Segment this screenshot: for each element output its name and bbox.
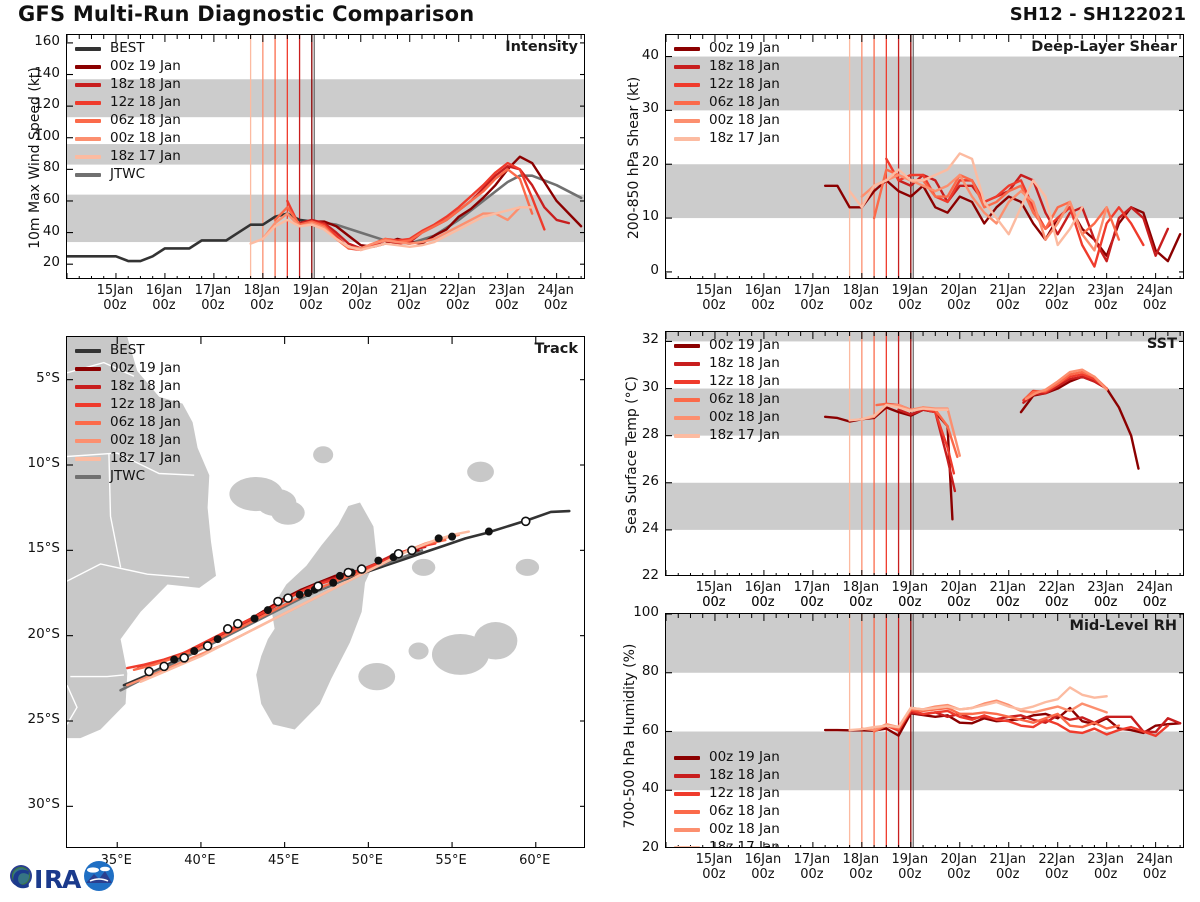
- legend-label: 18z 18 Jan: [709, 60, 780, 74]
- sst-ylabel: Sea Surface Temp (°C): [624, 335, 640, 575]
- legend-label: 18z 18 Jan: [110, 380, 181, 394]
- axis-tick-label: 160: [20, 33, 60, 49]
- legend-item: 00z 18 Jan: [75, 130, 181, 148]
- panel-rh: Mid-Level RH 00z 19 Jan18z 18 Jan12z 18 …: [665, 613, 1184, 848]
- legend-swatch-icon: [75, 65, 101, 70]
- axis-tick-label: 30: [619, 379, 659, 395]
- shear-legend: 00z 19 Jan18z 18 Jan12z 18 Jan06z 18 Jan…: [674, 40, 780, 148]
- legend-label: 00z 19 Jan: [110, 60, 181, 74]
- legend-label: 00z 18 Jan: [709, 823, 780, 837]
- legend-item: BEST: [75, 342, 181, 360]
- legend-swatch-icon: [674, 344, 700, 349]
- panel-sst: SST 00z 19 Jan18z 18 Jan12z 18 Jan06z 18…: [665, 331, 1184, 576]
- legend-swatch-icon: [75, 119, 101, 124]
- legend-label: 18z 17 Jan: [709, 132, 780, 146]
- axis-tick-label: 24Jan00z: [1125, 283, 1185, 314]
- axis-tick-label: 24Jan00z: [1125, 852, 1185, 883]
- legend-swatch-icon: [674, 756, 700, 761]
- legend-label: JTWC: [110, 470, 145, 484]
- legend-label: 00z 19 Jan: [709, 751, 780, 765]
- legend-label: 18z 17 Jan: [709, 841, 780, 848]
- track-legend: BEST00z 19 Jan18z 18 Jan12z 18 Jan06z 18…: [75, 342, 181, 486]
- legend-item: 18z 18 Jan: [674, 767, 780, 785]
- legend-label: BEST: [110, 42, 145, 56]
- axis-tick-label: 24: [619, 520, 659, 536]
- legend-swatch-icon: [75, 421, 101, 426]
- svg-text:A: A: [62, 865, 82, 894]
- axis-tick-label: 100: [20, 128, 60, 144]
- legend-swatch-icon: [674, 47, 700, 52]
- storm-id-label: SH12 - SH122021: [1010, 4, 1186, 25]
- legend-item: 06z 18 Jan: [674, 391, 780, 409]
- legend-swatch-icon: [75, 475, 101, 480]
- legend-label: 18z 17 Jan: [110, 150, 181, 164]
- legend-item: 12z 18 Jan: [75, 396, 181, 414]
- axis-tick-label: 25°S: [6, 711, 60, 727]
- legend-swatch-icon: [674, 65, 700, 70]
- axis-tick-label: 20: [619, 154, 659, 170]
- legend-label: 06z 18 Jan: [709, 805, 780, 819]
- legend-item: 00z 18 Jan: [75, 432, 181, 450]
- axis-tick-label: 28: [619, 426, 659, 442]
- sst-panel-title: SST: [1147, 336, 1177, 352]
- axis-tick-label: 140: [20, 65, 60, 81]
- legend-swatch-icon: [674, 83, 700, 88]
- legend-swatch-icon: [674, 380, 700, 385]
- legend-label: 00z 18 Jan: [709, 411, 780, 425]
- sst-legend: 00z 19 Jan18z 18 Jan12z 18 Jan06z 18 Jan…: [674, 337, 780, 445]
- axis-tick-label: 20: [619, 839, 659, 855]
- axis-tick-label: 60: [20, 191, 60, 207]
- legend-label: 18z 18 Jan: [110, 78, 181, 92]
- axis-tick-label: 40: [20, 223, 60, 239]
- legend-item: 06z 18 Jan: [674, 803, 780, 821]
- legend-item: 18z 17 Jan: [674, 130, 780, 148]
- legend-swatch-icon: [674, 792, 700, 797]
- legend-item: 18z 18 Jan: [674, 355, 780, 373]
- legend-label: 18z 18 Jan: [709, 769, 780, 783]
- rh-legend: 00z 19 Jan18z 18 Jan12z 18 Jan06z 18 Jan…: [674, 749, 780, 848]
- axis-tick-label: 10: [619, 208, 659, 224]
- legend-item: 00z 19 Jan: [75, 360, 181, 378]
- svg-text:C: C: [12, 865, 30, 894]
- legend-label: 00z 18 Jan: [110, 434, 181, 448]
- panel-shear: Deep-Layer Shear 00z 19 Jan18z 18 Jan12z…: [665, 34, 1184, 279]
- axis-tick-label: 60: [619, 722, 659, 738]
- axis-tick-label: 20°S: [6, 626, 60, 642]
- legend-swatch-icon: [75, 349, 101, 354]
- legend-item: 18z 17 Jan: [674, 427, 780, 445]
- legend-item: 12z 18 Jan: [674, 373, 780, 391]
- axis-tick-label: 20: [20, 254, 60, 270]
- legend-label: 12z 18 Jan: [709, 375, 780, 389]
- rh-panel-title: Mid-Level RH: [1070, 618, 1177, 634]
- legend-item: 18z 17 Jan: [75, 148, 181, 166]
- legend-item: 00z 19 Jan: [674, 40, 780, 58]
- legend-swatch-icon: [674, 362, 700, 367]
- legend-swatch-icon: [674, 774, 700, 779]
- legend-label: BEST: [110, 344, 145, 358]
- axis-tick-label: 15°S: [6, 540, 60, 556]
- legend-item: 00z 18 Jan: [674, 821, 780, 839]
- legend-swatch-icon: [674, 119, 700, 124]
- legend-label: 06z 18 Jan: [709, 96, 780, 110]
- legend-swatch-icon: [75, 367, 101, 372]
- legend-item: 00z 19 Jan: [674, 749, 780, 767]
- legend-item: 18z 17 Jan: [75, 450, 181, 468]
- legend-item: 00z 19 Jan: [674, 337, 780, 355]
- legend-swatch-icon: [674, 810, 700, 815]
- legend-label: 18z 17 Jan: [110, 452, 181, 466]
- legend-item: 00z 18 Jan: [674, 112, 780, 130]
- legend-item: 00z 18 Jan: [674, 409, 780, 427]
- svg-text:I: I: [34, 865, 43, 894]
- legend-label: 18z 17 Jan: [709, 429, 780, 443]
- legend-swatch-icon: [674, 137, 700, 142]
- legend-label: 12z 18 Jan: [110, 398, 181, 412]
- svg-text:R: R: [44, 865, 63, 894]
- legend-item: 06z 18 Jan: [75, 112, 181, 130]
- legend-swatch-icon: [75, 385, 101, 390]
- legend-label: 06z 18 Jan: [110, 114, 181, 128]
- legend-label: 06z 18 Jan: [110, 416, 181, 430]
- legend-item: JTWC: [75, 468, 181, 486]
- legend-item: 06z 18 Jan: [75, 414, 181, 432]
- legend-label: JTWC: [110, 168, 145, 182]
- panel-intensity: Intensity BEST00z 19 Jan18z 18 Jan12z 18…: [66, 34, 585, 279]
- axis-tick-label: 45°E: [254, 853, 314, 868]
- axis-tick-label: 50°E: [337, 853, 397, 868]
- legend-swatch-icon: [674, 416, 700, 421]
- axis-tick-label: 32: [619, 331, 659, 347]
- legend-swatch-icon: [75, 439, 101, 444]
- shear-panel-title: Deep-Layer Shear: [1031, 39, 1177, 55]
- legend-swatch-icon: [75, 403, 101, 408]
- legend-swatch-icon: [75, 457, 101, 462]
- legend-swatch-icon: [75, 173, 101, 178]
- panel-track: Track BEST00z 19 Jan18z 18 Jan12z 18 Jan…: [66, 336, 585, 848]
- legend-label: 00z 19 Jan: [110, 362, 181, 376]
- axis-tick-label: 5°S: [6, 370, 60, 386]
- cira-logo: C I R A: [4, 856, 122, 898]
- axis-tick-label: 30°S: [6, 796, 60, 812]
- axis-tick-label: 40°E: [170, 853, 230, 868]
- track-panel-title: Track: [535, 341, 578, 357]
- legend-item: 18z 18 Jan: [75, 378, 181, 396]
- axis-tick-label: 30: [619, 100, 659, 116]
- legend-label: 00z 19 Jan: [709, 42, 780, 56]
- legend-label: 18z 18 Jan: [709, 357, 780, 371]
- legend-item: JTWC: [75, 166, 181, 184]
- axis-tick-label: 80: [619, 663, 659, 679]
- legend-item: BEST: [75, 40, 181, 58]
- legend-swatch-icon: [674, 434, 700, 439]
- axis-tick-label: 55°E: [421, 853, 481, 868]
- figure-root: GFS Multi-Run Diagnostic Comparison SH12…: [0, 0, 1200, 900]
- legend-item: 18z 18 Jan: [674, 58, 780, 76]
- axis-tick-label: 100: [619, 604, 659, 620]
- axis-tick-label: 26: [619, 473, 659, 489]
- legend-swatch-icon: [75, 47, 101, 52]
- legend-item: 12z 18 Jan: [674, 76, 780, 94]
- legend-swatch-icon: [674, 828, 700, 833]
- axis-tick-label: 40: [619, 780, 659, 796]
- axis-tick-label: 00z: [1125, 595, 1185, 610]
- intensity-panel-title: Intensity: [505, 39, 578, 55]
- legend-label: 12z 18 Jan: [709, 78, 780, 92]
- legend-swatch-icon: [75, 101, 101, 106]
- legend-item: 12z 18 Jan: [75, 94, 181, 112]
- axis-tick-label: 120: [20, 96, 60, 112]
- legend-swatch-icon: [674, 398, 700, 403]
- legend-label: 00z 18 Jan: [709, 114, 780, 128]
- axis-tick-label: 24Jan00z: [526, 283, 586, 314]
- legend-label: 12z 18 Jan: [110, 96, 181, 110]
- axis-tick-label: 60°E: [505, 853, 565, 868]
- legend-swatch-icon: [674, 846, 700, 848]
- legend-swatch-icon: [75, 137, 101, 142]
- legend-swatch-icon: [674, 101, 700, 106]
- legend-item: 06z 18 Jan: [674, 94, 780, 112]
- axis-tick-label: 40: [619, 47, 659, 63]
- legend-item: 18z 17 Jan: [674, 839, 780, 848]
- legend-label: 12z 18 Jan: [709, 787, 780, 801]
- axis-tick-label: 0: [619, 262, 659, 278]
- axis-tick-label: 10°S: [6, 455, 60, 471]
- figure-title: GFS Multi-Run Diagnostic Comparison: [18, 2, 474, 26]
- axis-tick-label: 80: [20, 159, 60, 175]
- legend-label: 00z 19 Jan: [709, 339, 780, 353]
- legend-label: 06z 18 Jan: [709, 393, 780, 407]
- axis-tick-label: 22: [619, 567, 659, 583]
- intensity-legend: BEST00z 19 Jan18z 18 Jan12z 18 Jan06z 18…: [75, 40, 181, 184]
- legend-item: 12z 18 Jan: [674, 785, 780, 803]
- legend-label: 00z 18 Jan: [110, 132, 181, 146]
- legend-item: 18z 18 Jan: [75, 76, 181, 94]
- legend-swatch-icon: [75, 83, 101, 88]
- legend-swatch-icon: [75, 155, 101, 160]
- legend-item: 00z 19 Jan: [75, 58, 181, 76]
